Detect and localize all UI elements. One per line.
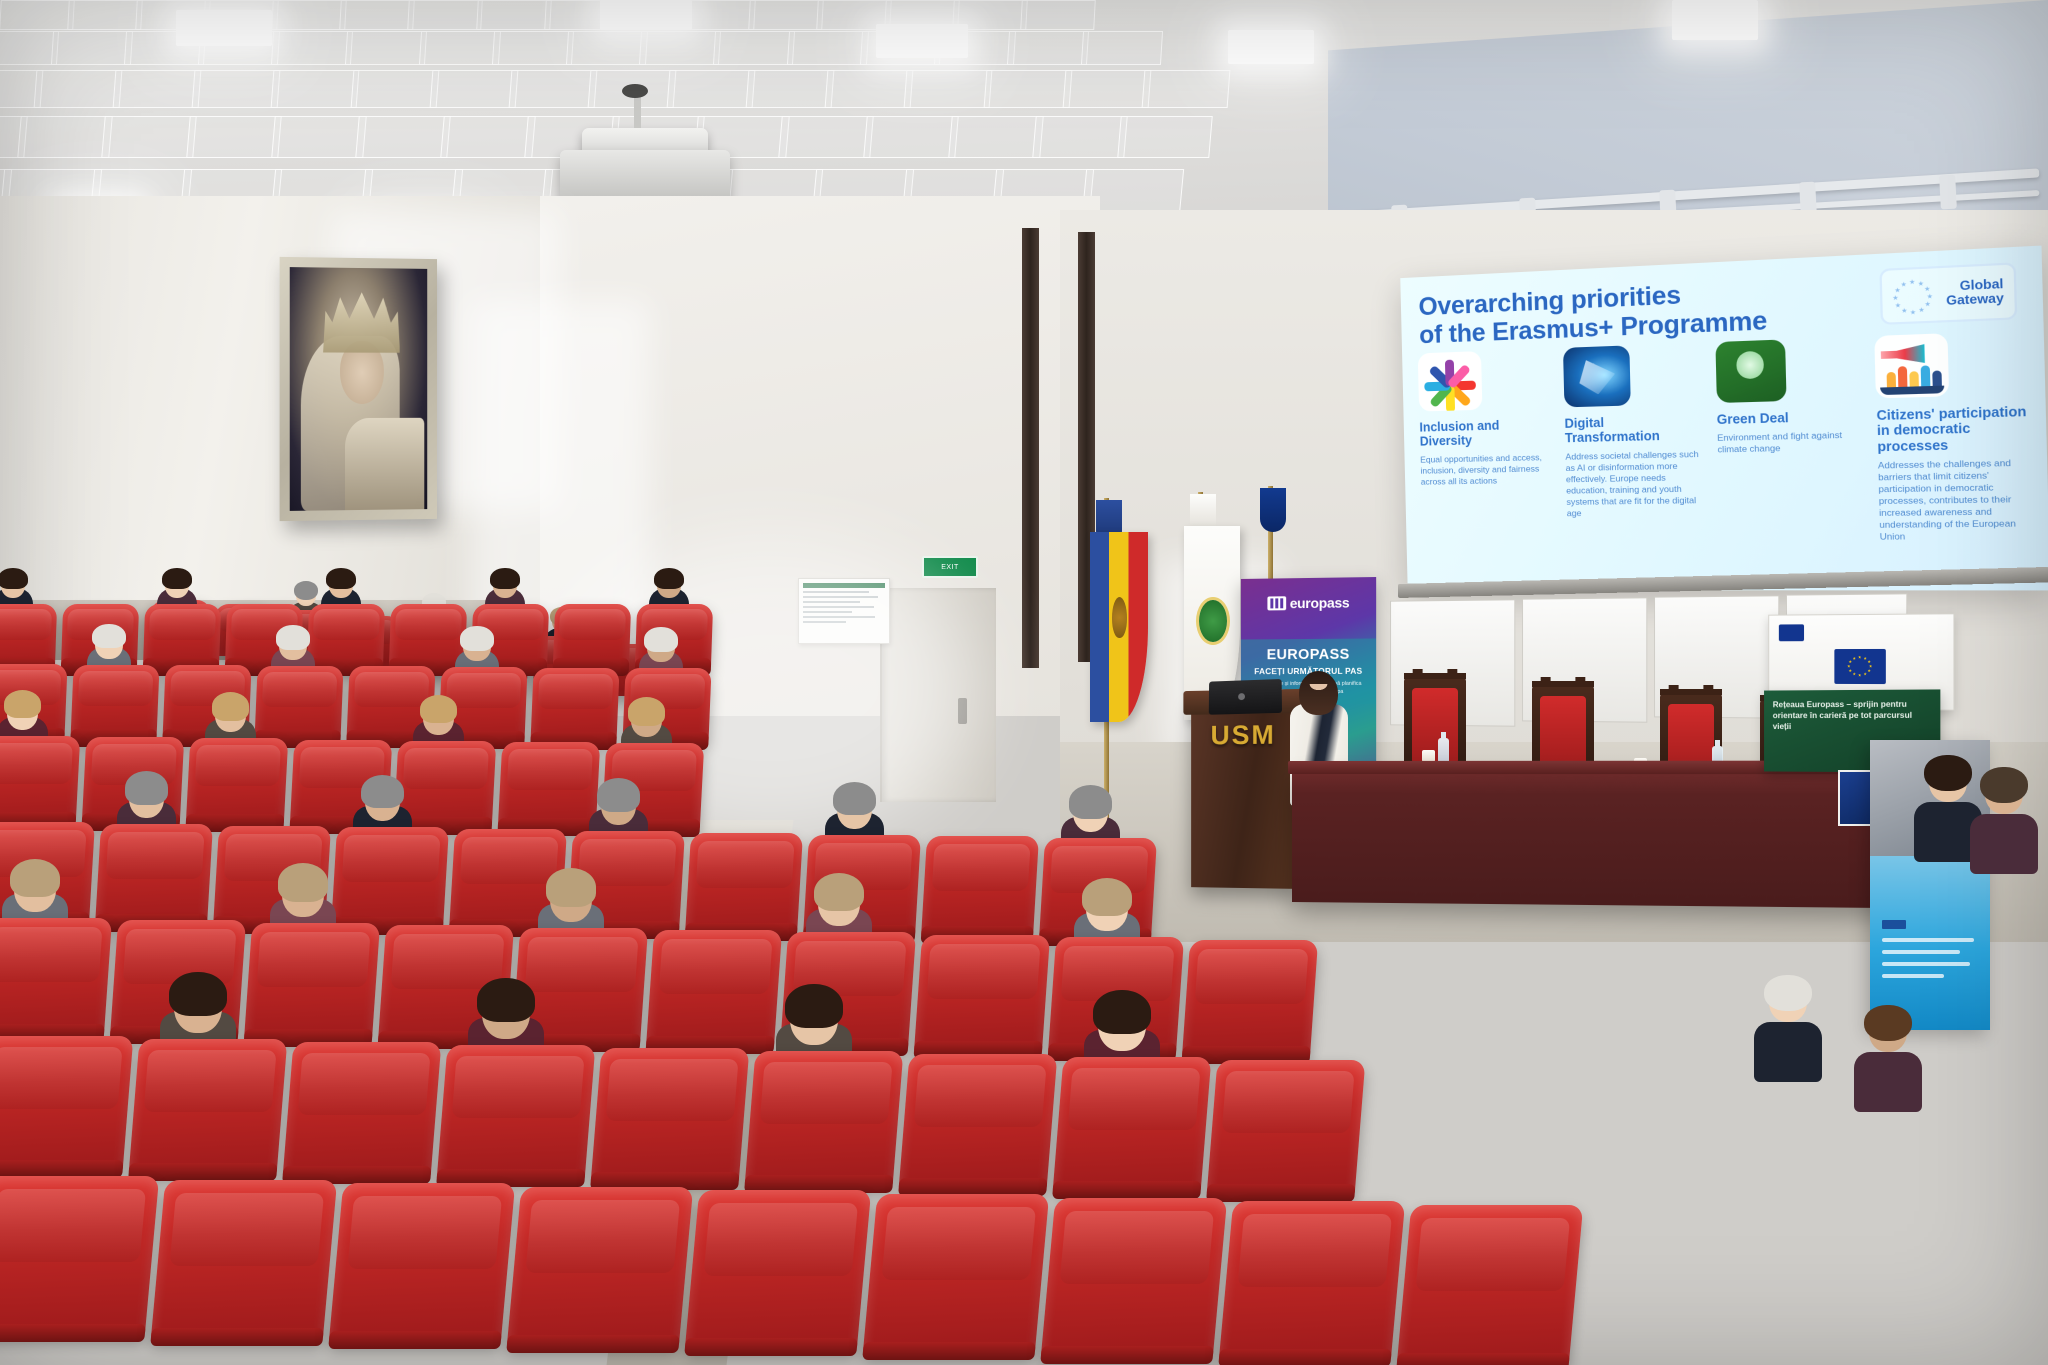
projection-screen: Overarching priorities of the Erasmus+ P… [1400, 246, 2048, 591]
auditorium-seat[interactable] [498, 742, 601, 830]
auditorium-seat[interactable] [331, 827, 449, 929]
ceiling-tile [746, 70, 835, 108]
auditorium-seat[interactable] [1219, 1201, 1406, 1361]
ceiling-light-panel [876, 24, 968, 58]
europass-mark-icon [1267, 596, 1286, 610]
slide-column-citizens: Citizens' participation in democratic pr… [1875, 330, 2034, 582]
europass-logo-text: europass [1290, 594, 1350, 611]
ceiling-tile [51, 31, 133, 65]
exit-sign-label: EXIT [941, 564, 959, 571]
green-deal-icon [1715, 339, 1786, 403]
slide-columns: Inclusion and Diversity Equal opportunit… [1418, 330, 2034, 582]
auditorium-seat[interactable] [129, 1039, 288, 1175]
auditorium-seat[interactable] [646, 930, 782, 1048]
auditorium-seat[interactable] [1397, 1205, 1584, 1365]
eu-star [1849, 660, 1852, 663]
slide-column-inclusion: Inclusion and Diversity Equal opportunit… [1418, 348, 1555, 582]
person-figure [1910, 371, 1920, 386]
ceiling-tile [787, 31, 869, 65]
auditorium-seat[interactable] [530, 668, 619, 744]
eu-star [1869, 665, 1872, 668]
ceiling-tile [271, 70, 360, 108]
eu-star [1925, 301, 1931, 307]
slide-title: Overarching priorities of the Erasmus+ P… [1418, 274, 1827, 350]
ceiling-tile [271, 31, 353, 65]
ceiling-tile [345, 31, 427, 65]
auditorium-seat[interactable] [186, 738, 289, 826]
auditorium-seat[interactable] [244, 923, 380, 1041]
eu-star [1853, 657, 1856, 660]
auditorium-seat[interactable] [553, 604, 631, 670]
inclusion-pinwheel-icon [1418, 351, 1483, 412]
ceiling-tile [748, 0, 824, 30]
column-heading: Citizens' participation in democratic pr… [1876, 404, 2030, 455]
global-gateway-line2: Gateway [1946, 291, 2004, 308]
ceiling-tile [904, 70, 993, 108]
ceiling-tile [272, 0, 348, 30]
ceiling-tile [492, 31, 574, 65]
global-gateway-logo: Global Gateway [1879, 262, 2017, 325]
presentation-slide: Overarching priorities of the Erasmus+ P… [1400, 246, 2048, 591]
auditorium-seat[interactable] [95, 824, 213, 926]
eu-star [1863, 657, 1866, 660]
eu-star [1867, 669, 1870, 672]
framed-portrait [280, 257, 437, 521]
eu-star [1927, 294, 1933, 300]
ceiling-tile [508, 70, 597, 108]
ceiling-tile [419, 31, 501, 65]
eu-flag-icon [1834, 649, 1885, 684]
exit-door[interactable] [880, 588, 996, 802]
eu-star [1853, 672, 1856, 675]
ceiling-tile [863, 116, 959, 158]
column-body: Address societal challenges such as AI o… [1565, 448, 1705, 519]
ceiling-tile [340, 0, 416, 30]
ceiling-tile [983, 70, 1072, 108]
auditorium-seat[interactable] [685, 1190, 872, 1350]
laptop [1209, 679, 1282, 715]
auditorium-seat[interactable] [151, 1180, 338, 1340]
eu-stars-icon [1890, 276, 1937, 319]
rollup-line [1882, 962, 1970, 966]
ceiling-tile [429, 70, 518, 108]
ceiling-tile [113, 70, 202, 108]
exit-sign: EXIT [922, 556, 978, 578]
green-banner-text: Rețeaua Europass – sprijin pentru orient… [1773, 699, 1931, 732]
ceiling-tile [440, 116, 536, 158]
eu-star [1858, 673, 1861, 676]
ceiling-tile [17, 116, 113, 158]
auditorium-seat[interactable] [0, 1176, 159, 1336]
person-figure [1887, 371, 1896, 386]
auditorium-seat[interactable] [863, 1194, 1050, 1354]
eu-star [1901, 308, 1907, 314]
ceiling-light-panel [1228, 30, 1314, 64]
eu-star [1893, 295, 1899, 301]
ceiling-tile [186, 116, 282, 158]
auditorium-seat[interactable] [0, 736, 80, 824]
structural-pillar [1022, 228, 1039, 668]
ceiling-tile [566, 31, 648, 65]
auditorium-seat[interactable] [685, 833, 803, 935]
eu-star [1924, 286, 1930, 292]
column-heading: Green Deal [1717, 409, 1863, 428]
rollup-line [1882, 938, 1974, 942]
eu-star [1895, 302, 1901, 308]
column-heading: Inclusion and Diversity [1419, 417, 1551, 449]
ceiling-tile [476, 0, 552, 30]
eu-star [1895, 287, 1901, 293]
auditorium-seat[interactable] [0, 604, 57, 670]
digital-transformation-icon [1563, 345, 1631, 407]
eu-star [1858, 655, 1861, 658]
eu-flag-small-icon [1779, 624, 1804, 641]
auditorium-seat[interactable] [1041, 1198, 1228, 1358]
citizens-participation-icon [1875, 333, 1950, 398]
auditorium-seat[interactable] [914, 935, 1050, 1053]
audience-member [1920, 760, 1976, 856]
ceiling-tile [713, 31, 795, 65]
auditorium-seat[interactable] [70, 665, 159, 741]
ceiling-tile [1033, 116, 1129, 158]
wall-notice [798, 578, 890, 644]
flag-eu-pelmet [1260, 488, 1286, 532]
audience-member [1760, 980, 1816, 1076]
column-body: Equal opportunities and access, inclusio… [1420, 452, 1553, 488]
person-figure [1921, 365, 1931, 386]
ceiling-tile [779, 116, 875, 158]
auditorium-seat[interactable] [1053, 1057, 1212, 1193]
ceiling-tile [355, 116, 451, 158]
rollup-chip [1882, 920, 1906, 929]
eu-star [1919, 307, 1925, 313]
eu-star [1847, 664, 1850, 667]
ceiling-tile [948, 116, 1044, 158]
ceiling-light-panel [1672, 0, 1758, 40]
auditorium-seat[interactable] [745, 1051, 904, 1187]
column-body: Environment and fight against climate ch… [1717, 429, 1863, 456]
ceiling-tile [34, 70, 123, 108]
presidium-table [1292, 770, 1903, 908]
ceiling-tile [1141, 70, 1230, 108]
auditorium-seat[interactable] [329, 1183, 516, 1343]
rollup-line [1882, 974, 1944, 978]
ceiling-tile [271, 116, 367, 158]
person-figure [1933, 370, 1943, 386]
presidium-chair[interactable] [1404, 676, 1466, 768]
eu-star [1901, 282, 1907, 288]
auditorium-seat[interactable] [143, 604, 221, 670]
conference-hall-photo: EXIT Overarching priorities of the Erasm… [0, 0, 2048, 1365]
audience-member [1976, 772, 2032, 868]
door-handle[interactable] [958, 698, 967, 724]
europass-headline: EUROPASS [1247, 647, 1370, 664]
ceiling-tile [350, 70, 439, 108]
eu-star [1910, 309, 1916, 315]
auditorium-seat[interactable] [283, 1042, 442, 1178]
flag-moldova [1090, 532, 1148, 722]
auditorium-seat[interactable] [921, 836, 1039, 938]
ceiling-tile [1007, 31, 1089, 65]
ceiling-tile [667, 70, 756, 108]
ceiling-tile [102, 116, 198, 158]
ceiling-light-panel [176, 10, 272, 46]
slide-column-digital: Digital Transformation Address societal … [1563, 343, 1707, 582]
auditorium-seat[interactable] [0, 918, 112, 1036]
slide-column-green: Green Deal Environment and fight against… [1715, 337, 1866, 582]
ceiling-light-panel [600, 0, 692, 30]
person-figure [1898, 366, 1908, 387]
eu-star [1849, 669, 1852, 672]
auditorium-seat[interactable] [899, 1054, 1058, 1190]
auditorium-seat[interactable] [507, 1187, 694, 1347]
column-body: Addresses the challenges and barriers th… [1878, 457, 2033, 543]
ceiling-tile [192, 70, 281, 108]
auditorium-seat[interactable] [307, 604, 385, 670]
ceiling-tile [1081, 31, 1163, 65]
ceiling-tile [639, 31, 721, 65]
europass-logo: europass [1241, 594, 1376, 612]
auditorium-seat[interactable] [1207, 1060, 1366, 1196]
ceiling-tile [825, 70, 914, 108]
ceiling-tile [1117, 116, 1213, 158]
auditorium-seat[interactable] [437, 1045, 596, 1181]
auditorium-seat[interactable] [0, 1036, 133, 1172]
ceiling-tile [408, 0, 484, 30]
podium-usm-label: USM [1199, 719, 1288, 751]
eu-star [1867, 660, 1870, 663]
rollup-line [1882, 950, 1960, 954]
audience-member [1860, 1010, 1916, 1106]
eu-star [1918, 281, 1924, 287]
eu-star [1909, 279, 1915, 285]
ceiling-tile [1020, 0, 1096, 30]
auditorium-seat[interactable] [591, 1048, 750, 1184]
auditorium-seat[interactable] [1182, 940, 1318, 1058]
speaker-podium: USM [1191, 699, 1296, 889]
eu-star [1863, 672, 1866, 675]
track-light [1939, 175, 1957, 210]
ceiling-tile [0, 0, 75, 30]
ceiling-tile [1062, 70, 1151, 108]
auditorium-seat[interactable] [254, 666, 343, 742]
column-heading: Digital Transformation [1564, 413, 1703, 446]
ceiling-tile [67, 0, 143, 30]
